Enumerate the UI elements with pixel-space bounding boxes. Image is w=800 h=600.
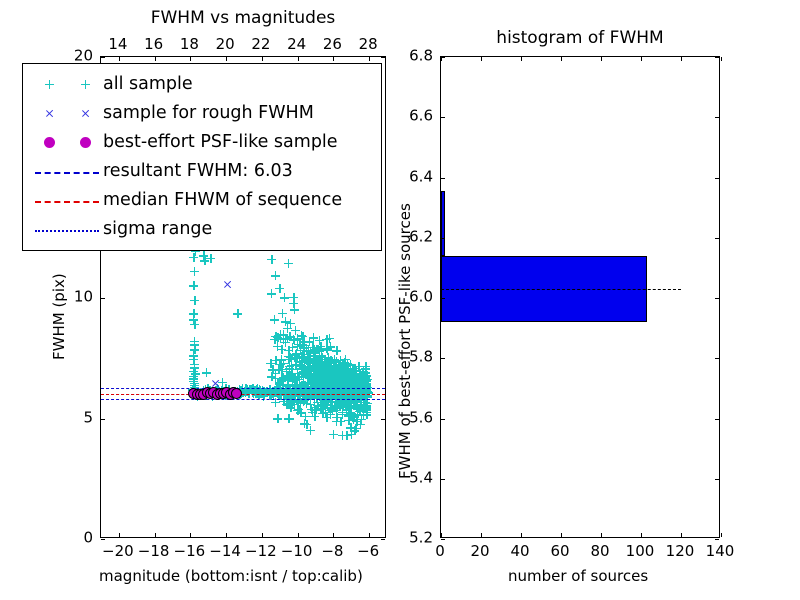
all-sample-point [189, 253, 198, 262]
all-sample-point [356, 400, 365, 409]
all-sample-point [330, 355, 339, 364]
all-sample-point [336, 366, 345, 375]
circle-marker [44, 137, 55, 148]
all-sample-point [292, 354, 301, 363]
all-sample-point [309, 358, 318, 367]
histogram-y-tick-label: 6.6 [409, 109, 433, 124]
all-sample-point [338, 408, 347, 417]
all-sample-point [357, 415, 366, 424]
all-sample-point [326, 410, 335, 419]
all-sample-point [332, 346, 341, 355]
all-sample-point [355, 375, 364, 384]
histogram-x-tick [681, 533, 682, 537]
histogram-y-tick [441, 539, 445, 540]
all-sample-point [333, 379, 342, 388]
all-sample-point [323, 344, 332, 353]
all-sample-point [362, 379, 371, 388]
all-sample-point [328, 406, 337, 415]
all-sample-point [349, 415, 358, 424]
all-sample-point [301, 412, 310, 421]
all-sample-point [352, 379, 361, 388]
all-sample-point [356, 385, 365, 394]
all-sample-point [315, 351, 324, 360]
all-sample-point [292, 349, 301, 358]
all-sample-point [343, 359, 352, 368]
all-sample-point [189, 281, 198, 290]
all-sample-point [350, 379, 359, 388]
all-sample-point [354, 382, 363, 391]
all-sample-point [324, 374, 333, 383]
all-sample-point [345, 372, 354, 381]
all-sample-point [356, 382, 365, 391]
all-sample-point [360, 372, 369, 381]
all-sample-point [282, 367, 291, 376]
all-sample-point [325, 379, 334, 388]
legend-handle [31, 73, 103, 97]
all-sample-point [318, 378, 327, 387]
all-sample-point [206, 254, 215, 263]
all-sample-point [337, 376, 346, 385]
histogram-x-tick-label: 100 [626, 544, 655, 559]
all-sample-point [284, 373, 293, 382]
all-sample-point [303, 380, 312, 389]
all-sample-point [283, 376, 292, 385]
all-sample-point [327, 373, 336, 382]
all-sample-point [344, 367, 353, 376]
all-sample-point [332, 371, 341, 380]
all-sample-point [349, 398, 358, 407]
all-sample-point [314, 375, 323, 384]
all-sample-point [190, 340, 199, 349]
legend-item: all sample [31, 70, 371, 99]
histogram-y-tick-right [715, 238, 719, 239]
all-sample-point [343, 400, 352, 409]
all-sample-point [316, 374, 325, 383]
all-sample-point [321, 400, 330, 409]
all-sample-point [332, 413, 341, 422]
y-tick-left [101, 419, 105, 420]
all-sample-point [285, 371, 294, 380]
all-sample-point [322, 400, 331, 409]
all-sample-point [291, 350, 300, 359]
all-sample-point [338, 376, 347, 385]
all-sample-point [331, 378, 340, 387]
all-sample-point [298, 357, 307, 366]
all-sample-point [342, 368, 351, 377]
histogram-y-tick [441, 298, 445, 299]
all-sample-point [350, 370, 359, 379]
y-tick-right [381, 57, 385, 58]
all-sample-point [355, 382, 364, 391]
all-sample-point [321, 358, 330, 367]
all-sample-point [278, 375, 287, 384]
all-sample-point [319, 382, 328, 391]
all-sample-point [322, 396, 331, 405]
all-sample-point [271, 356, 280, 365]
all-sample-point [344, 375, 353, 384]
all-sample-point [339, 399, 348, 408]
x-marker [81, 109, 90, 118]
all-sample-point [339, 371, 348, 380]
all-sample-point [319, 409, 328, 418]
all-sample-point [306, 400, 315, 409]
all-sample-point [319, 382, 328, 391]
x-tick-label-bottom: −14 [209, 544, 241, 559]
all-sample-point [361, 373, 370, 382]
all-sample-point [340, 380, 349, 389]
all-sample-point [218, 378, 227, 387]
all-sample-point [326, 366, 335, 375]
all-sample-point [270, 335, 279, 344]
all-sample-point [303, 364, 312, 373]
legend-handle [31, 160, 103, 184]
x-tick-label-bottom: −20 [102, 544, 134, 559]
all-sample-point [284, 352, 293, 361]
x-tick-top [226, 57, 227, 61]
all-sample-point [319, 379, 328, 388]
all-sample-point [340, 358, 349, 367]
all-sample-point [341, 370, 350, 379]
all-sample-point [325, 363, 334, 372]
all-sample-point [354, 376, 363, 385]
all-sample-point [350, 370, 359, 379]
all-sample-point [345, 403, 354, 412]
all-sample-point [323, 372, 332, 381]
all-sample-point [300, 419, 309, 428]
all-sample-point [291, 360, 300, 369]
all-sample-point [189, 367, 198, 376]
histogram-x-tick-label: 120 [666, 544, 695, 559]
scatter-plot-title: FWHM vs magnitudes [151, 10, 336, 27]
all-sample-point [362, 408, 371, 417]
red-dashed-line [35, 201, 99, 203]
x-tick-top [298, 57, 299, 61]
all-sample-point [314, 345, 323, 354]
all-sample-point [295, 353, 304, 362]
all-sample-point [343, 383, 352, 392]
all-sample-point [316, 342, 325, 351]
all-sample-point [362, 410, 371, 419]
x-tick-label-top: 16 [144, 37, 163, 52]
all-sample-point [273, 414, 282, 423]
all-sample-point [336, 356, 345, 365]
all-sample-point [350, 373, 359, 382]
all-sample-point [299, 337, 308, 346]
all-sample-point [350, 379, 359, 388]
all-sample-point [314, 402, 323, 411]
scatter-y-axis-label: FWHM (pix) [52, 273, 67, 360]
all-sample-point [349, 379, 358, 388]
all-sample-point [343, 368, 352, 377]
histogram-x-tick-label: 40 [510, 544, 529, 559]
all-sample-point [190, 337, 199, 346]
all-sample-point [287, 369, 296, 378]
all-sample-point [351, 378, 360, 387]
all-sample-point [303, 364, 312, 373]
all-sample-point [324, 353, 333, 362]
all-sample-point [351, 424, 360, 433]
legend-item-label: sigma range [103, 221, 212, 239]
all-sample-point [322, 363, 331, 372]
all-sample-point [190, 296, 199, 305]
all-sample-point [190, 345, 199, 354]
all-sample-point [320, 372, 329, 381]
all-sample-point [342, 405, 351, 414]
all-sample-point [314, 366, 323, 375]
all-sample-point [342, 431, 351, 440]
all-sample-point [275, 378, 284, 387]
all-sample-point [323, 346, 332, 355]
all-sample-point [355, 371, 364, 380]
legend-handle [31, 218, 103, 242]
all-sample-point [355, 382, 364, 391]
all-sample-point [353, 377, 362, 386]
histogram-y-tick [441, 419, 445, 420]
all-sample-point [306, 364, 315, 373]
all-sample-point [309, 354, 318, 363]
all-sample-point [284, 259, 293, 268]
all-sample-point [295, 375, 304, 384]
all-sample-point [355, 404, 364, 413]
all-sample-point [278, 309, 287, 318]
all-sample-point [341, 372, 350, 381]
all-sample-point [356, 420, 365, 429]
all-sample-point [302, 356, 311, 365]
all-sample-point [358, 373, 367, 382]
all-sample-point [350, 426, 359, 435]
all-sample-point [310, 412, 319, 421]
legend-item: best-effort PSF-like sample [31, 128, 371, 157]
all-sample-point [276, 334, 285, 343]
all-sample-point [233, 309, 242, 318]
all-sample-point [341, 395, 350, 404]
all-sample-point [266, 359, 275, 368]
all-sample-point [323, 395, 332, 404]
all-sample-point [190, 363, 199, 372]
all-sample-point [352, 417, 361, 426]
all-sample-point [329, 377, 338, 386]
x-marker [45, 109, 54, 118]
all-sample-point [344, 371, 353, 380]
all-sample-point [308, 358, 317, 367]
all-sample-point [316, 379, 325, 388]
all-sample-point [326, 367, 335, 376]
all-sample-point [332, 378, 341, 387]
all-sample-point [344, 383, 353, 392]
all-sample-point [340, 382, 349, 391]
all-sample-point [306, 426, 315, 435]
all-sample-point [351, 377, 360, 386]
all-sample-point [316, 379, 325, 388]
histogram-y-tick-right [715, 479, 719, 480]
all-sample-point [336, 417, 345, 426]
all-sample-point [339, 370, 348, 379]
all-sample-point [338, 410, 347, 419]
all-sample-point [314, 358, 323, 367]
all-sample-point [338, 388, 347, 397]
all-sample-point [337, 376, 346, 385]
all-sample-point [296, 346, 305, 355]
x-tick-label-bottom: −8 [321, 544, 343, 559]
all-sample-point [303, 378, 312, 387]
all-sample-point [358, 373, 367, 382]
all-sample-point [346, 367, 355, 376]
all-sample-point [276, 330, 285, 339]
all-sample-point [190, 360, 199, 369]
all-sample-point [362, 405, 371, 414]
histogram-x-tick-label: 60 [550, 544, 569, 559]
all-sample-point [324, 374, 333, 383]
all-sample-point [352, 401, 361, 410]
all-sample-point [287, 361, 296, 370]
all-sample-point [280, 293, 289, 302]
all-sample-point [307, 378, 316, 387]
all-sample-point [299, 373, 308, 382]
all-sample-point [277, 377, 286, 386]
all-sample-point [354, 373, 363, 382]
legend-handle [31, 131, 103, 155]
all-sample-point [318, 378, 327, 387]
all-sample-point [321, 400, 330, 409]
all-sample-point [348, 375, 357, 384]
all-sample-point [329, 362, 338, 371]
all-sample-point [346, 404, 355, 413]
all-sample-point [335, 377, 344, 386]
all-sample-point [319, 368, 328, 377]
all-sample-point [322, 377, 331, 386]
all-sample-point [277, 345, 286, 354]
all-sample-point [327, 375, 336, 384]
histogram-y-tick-label: 5.2 [409, 531, 433, 546]
all-sample-point [332, 373, 341, 382]
all-sample-point [351, 396, 360, 405]
x-tick-bottom [190, 533, 191, 537]
all-sample-point [322, 344, 331, 353]
all-sample-point [355, 375, 364, 384]
all-sample-point [337, 375, 346, 384]
all-sample-point [346, 374, 355, 383]
all-sample-point [299, 344, 308, 353]
all-sample-point [347, 382, 356, 391]
all-sample-point [286, 403, 295, 412]
all-sample-point [287, 373, 296, 382]
x-tick-bottom [333, 533, 334, 537]
all-sample-point [343, 368, 352, 377]
all-sample-point [355, 378, 364, 387]
all-sample-point [295, 382, 304, 391]
all-sample-point [277, 365, 286, 374]
all-sample-point [303, 371, 312, 380]
all-sample-point [317, 383, 326, 392]
histogram-x-tick-label: 80 [590, 544, 609, 559]
all-sample-point [335, 396, 344, 405]
all-sample-point [360, 371, 369, 380]
all-sample-point [324, 370, 333, 379]
all-sample-point [359, 377, 368, 386]
all-sample-point [310, 366, 319, 375]
all-sample-point [319, 368, 328, 377]
histogram-bar [441, 191, 445, 256]
y-tick-left [101, 539, 105, 540]
x-tick-label-top: 26 [323, 37, 342, 52]
all-sample-point [273, 333, 282, 342]
all-sample-point [317, 365, 326, 374]
plus-marker [81, 80, 90, 89]
all-sample-point [315, 346, 324, 355]
all-sample-point [320, 375, 329, 384]
legend-item-label: resultant FWHM: 6.03 [103, 163, 293, 181]
all-sample-point [277, 374, 286, 383]
all-sample-point [345, 403, 354, 412]
all-sample-point [288, 377, 297, 386]
x-tick-top [155, 57, 156, 61]
all-sample-point [295, 340, 304, 349]
all-sample-point [317, 376, 326, 385]
all-sample-point [296, 360, 305, 369]
x-tick-top [190, 57, 191, 61]
all-sample-point [351, 366, 360, 375]
legend-item-label: sample for rough FWHM [103, 105, 314, 123]
all-sample-point [346, 396, 355, 405]
all-sample-point [331, 377, 340, 386]
all-sample-point [344, 368, 353, 377]
histogram-plot-area [441, 57, 719, 537]
all-sample-point [266, 388, 275, 397]
all-sample-point [323, 371, 332, 380]
all-sample-point [345, 376, 354, 385]
all-sample-point [360, 382, 369, 391]
all-sample-point [302, 368, 311, 377]
all-sample-point [341, 371, 350, 380]
all-sample-point [318, 409, 327, 418]
all-sample-point [284, 400, 293, 409]
all-sample-point [355, 407, 364, 416]
histogram-y-tick-right [715, 57, 719, 58]
all-sample-point [353, 404, 362, 413]
all-sample-point [333, 372, 342, 381]
all-sample-point [319, 375, 328, 384]
x-tick-top [119, 57, 120, 61]
all-sample-point [303, 352, 312, 361]
all-sample-point [357, 382, 366, 391]
all-sample-point [293, 334, 302, 343]
all-sample-point [300, 341, 309, 350]
all-sample-point [284, 372, 293, 381]
all-sample-point [290, 353, 299, 362]
all-sample-point [353, 400, 362, 409]
all-sample-point [275, 380, 284, 389]
all-sample-point [327, 404, 336, 413]
all-sample-point [353, 378, 362, 387]
all-sample-point [298, 383, 307, 392]
all-sample-point [311, 348, 320, 357]
histogram-y-tick [441, 358, 445, 359]
y-tick-right [381, 298, 385, 299]
y-tick-label: 10 [74, 290, 93, 305]
all-sample-point [334, 368, 343, 377]
all-sample-point [344, 416, 353, 425]
all-sample-point [312, 345, 321, 354]
all-sample-point [284, 355, 293, 364]
x-tick-bottom [155, 533, 156, 537]
all-sample-point [338, 359, 347, 368]
all-sample-point [339, 370, 348, 379]
all-sample-point [189, 374, 198, 383]
all-sample-point [358, 375, 367, 384]
median-fwhm-line [101, 394, 385, 395]
all-sample-point [346, 423, 355, 432]
all-sample-point [362, 371, 371, 380]
